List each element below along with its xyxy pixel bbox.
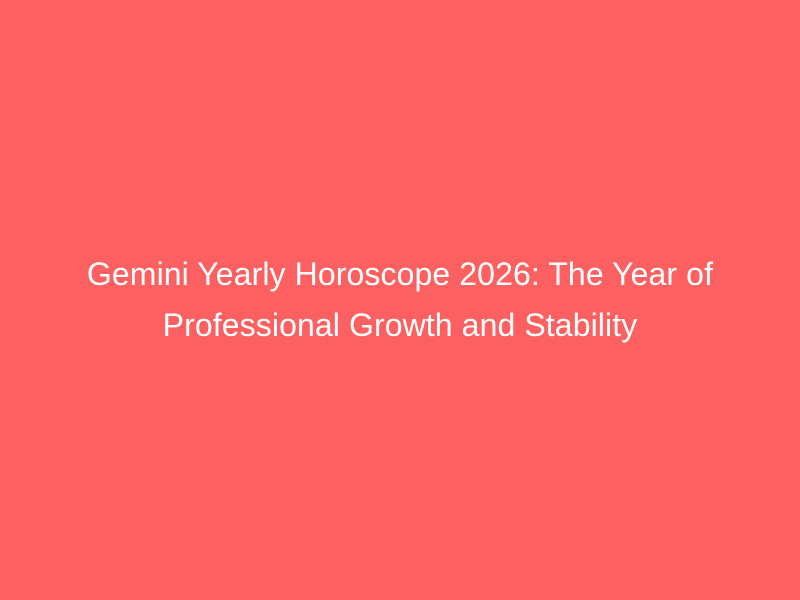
hero-card: Gemini Yearly Horoscope 2026: The Year o… [0, 0, 800, 600]
hero-title-container: Gemini Yearly Horoscope 2026: The Year o… [55, 249, 745, 351]
page-title: Gemini Yearly Horoscope 2026: The Year o… [55, 249, 745, 351]
